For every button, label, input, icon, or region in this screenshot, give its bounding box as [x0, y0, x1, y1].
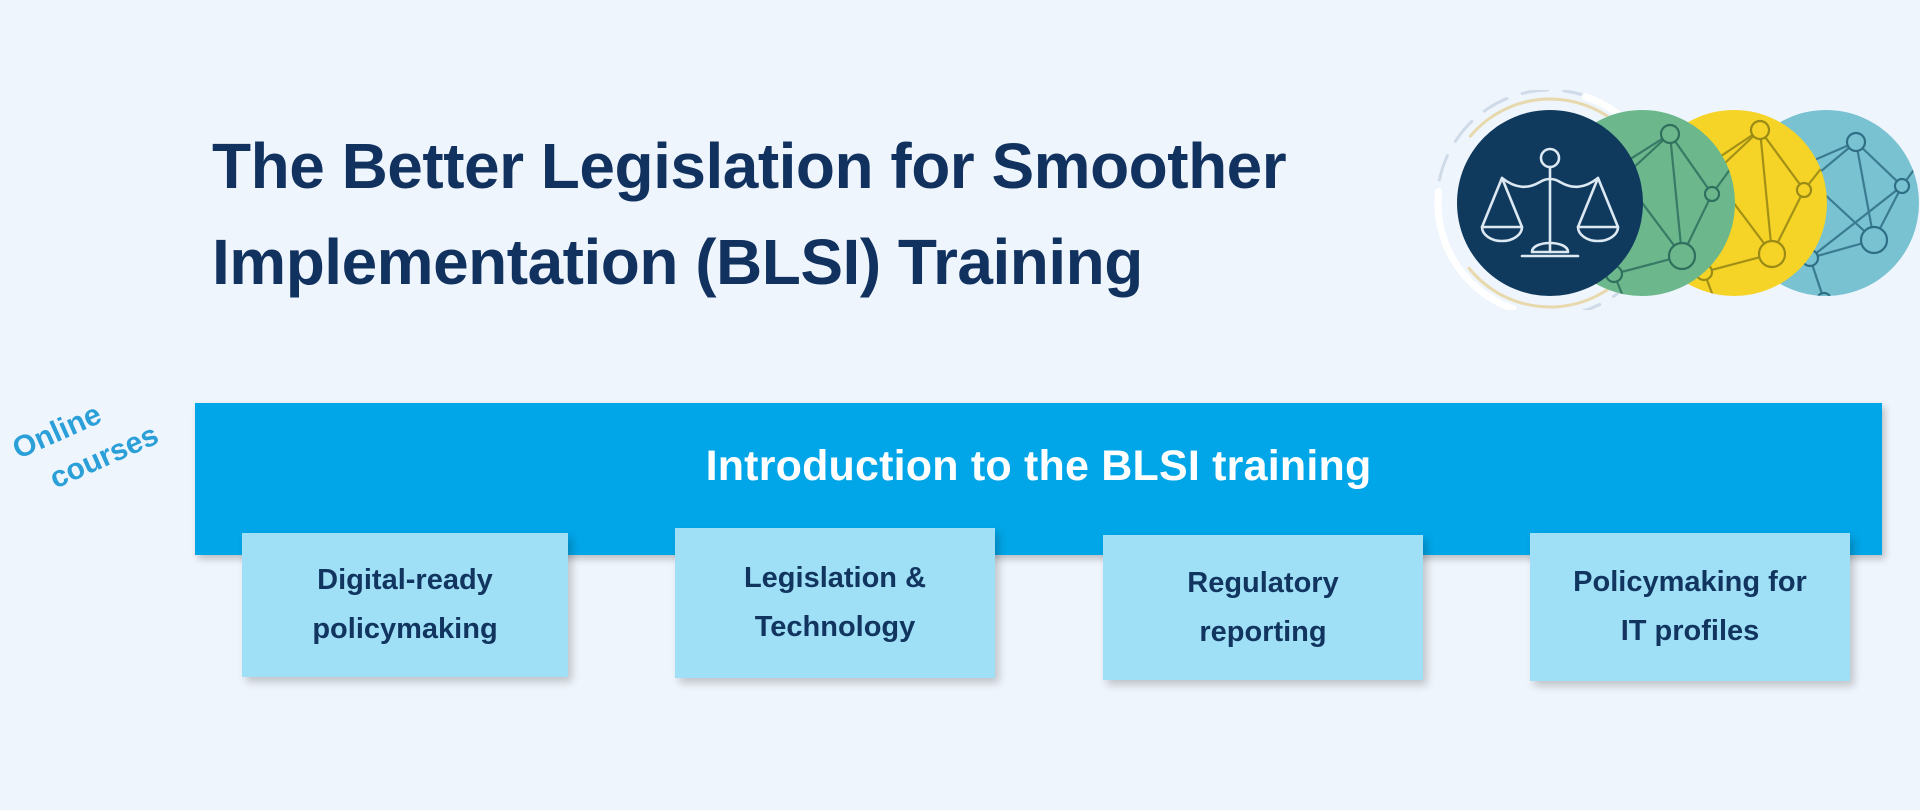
course-card-line-1: Policymaking for	[1573, 558, 1807, 607]
page-title-line-1: The Better Legislation for Smoother	[212, 118, 1212, 214]
course-card-line-2: reporting	[1187, 608, 1338, 657]
course-card-line-2: IT profiles	[1573, 607, 1807, 656]
course-card-legislation-and-technology[interactable]: Legislation & Technology	[675, 528, 995, 678]
course-card-label: Policymaking for IT profiles	[1563, 558, 1817, 656]
course-card-line-1: Legislation &	[744, 554, 926, 603]
course-card-line-1: Regulatory	[1187, 559, 1338, 608]
blsi-logo	[1404, 90, 1920, 310]
page-title-line-2: Implementation (BLSI) Training	[212, 214, 1212, 310]
course-card-policymaking-for-it-profiles[interactable]: Policymaking for IT profiles	[1530, 533, 1850, 681]
course-card-line-2: Technology	[744, 603, 926, 652]
course-card-label: Regulatory reporting	[1177, 559, 1348, 657]
course-card-digital-ready-policymaking[interactable]: Digital-ready policymaking	[242, 533, 568, 677]
course-card-label: Legislation & Technology	[734, 554, 936, 652]
course-card-line-1: Digital-ready	[312, 556, 497, 605]
course-card-label: Digital-ready policymaking	[302, 556, 507, 654]
course-card-line-2: policymaking	[312, 605, 497, 654]
online-courses-label: Online courses	[6, 363, 195, 509]
course-card-regulatory-reporting[interactable]: Regulatory reporting	[1103, 535, 1423, 680]
slide-canvas: The Better Legislation for Smoother Impl…	[0, 0, 1920, 810]
page-title: The Better Legislation for Smoother Impl…	[212, 118, 1212, 310]
